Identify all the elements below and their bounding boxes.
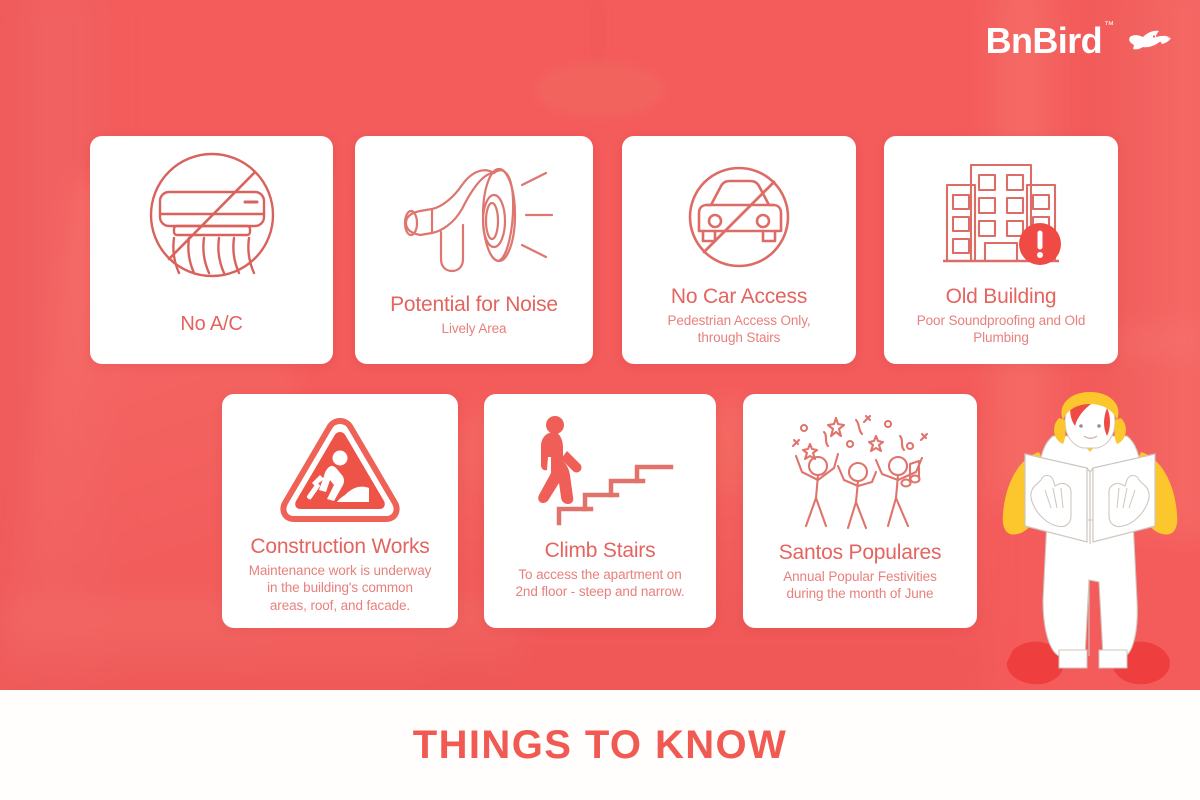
no-air-conditioner-icon <box>133 152 291 298</box>
background-pendant-lamp <box>534 62 666 118</box>
card-title: Construction Works <box>250 534 429 559</box>
card-text-wrapper: Santos Populares Annual Popular Festivit… <box>755 540 965 603</box>
card-climb-stairs[interactable]: Climb Stairs To access the apartment on … <box>484 394 716 628</box>
brand-logo[interactable]: BnBird ™ <box>986 20 1172 62</box>
card-construction-works[interactable]: Construction Works Maintenance work is u… <box>222 394 458 628</box>
card-subtitle: Poor Soundproofing and Old Plumbing <box>917 312 1086 347</box>
card-subtitle: Pedestrian Access Only, through Stairs <box>667 312 810 347</box>
card-icon-wrapper <box>102 150 321 300</box>
dancing-people-celebration-icon <box>776 410 944 538</box>
card-icon-wrapper <box>234 408 446 534</box>
dove-bird-icon <box>1124 25 1172 57</box>
page-title: THINGS TO KNOW <box>413 723 787 768</box>
person-reading-book-illustration <box>985 392 1195 690</box>
bottom-banner: THINGS TO KNOW <box>0 690 1200 800</box>
card-old-building[interactable]: Old Building Poor Soundproofing and Old … <box>884 136 1118 364</box>
card-title: Climb Stairs <box>545 538 656 563</box>
card-subtitle: Lively Area <box>442 320 507 337</box>
card-icon-wrapper <box>896 150 1106 284</box>
card-icon-wrapper <box>496 408 704 538</box>
card-subtitle: To access the apartment on 2nd floor - s… <box>516 566 685 601</box>
poster-stage: BnBird ™ <box>0 0 1200 800</box>
card-icon-wrapper <box>755 408 965 540</box>
card-icon-wrapper <box>367 150 581 292</box>
trademark-symbol: ™ <box>1104 20 1114 31</box>
card-text-wrapper: No Car Access Pedestrian Access Only, th… <box>634 284 844 347</box>
card-text-wrapper: Climb Stairs To access the apartment on … <box>496 538 704 601</box>
card-text-wrapper: No A/C <box>102 300 321 350</box>
person-climbing-stairs-icon <box>515 413 685 533</box>
no-car-icon <box>677 155 801 279</box>
card-text-wrapper: Construction Works Maintenance work is u… <box>234 534 446 614</box>
card-santos-populares[interactable]: Santos Populares Annual Popular Festivit… <box>743 394 977 628</box>
card-subtitle: Maintenance work is underway in the buil… <box>249 562 432 614</box>
card-no-ac[interactable]: No A/C <box>90 136 333 364</box>
construction-warning-triangle-icon <box>279 415 401 527</box>
card-text-wrapper: Old Building Poor Soundproofing and Old … <box>896 284 1106 347</box>
card-potential-for-noise[interactable]: Potential for Noise Lively Area <box>355 136 593 364</box>
card-text-wrapper: Potential for Noise Lively Area <box>367 292 581 337</box>
megaphone-icon <box>386 159 562 283</box>
card-title: Potential for Noise <box>390 292 558 317</box>
card-subtitle: Annual Popular Festivities during the mo… <box>783 568 936 603</box>
card-no-car-access[interactable]: No Car Access Pedestrian Access Only, th… <box>622 136 856 364</box>
card-title: No Car Access <box>671 284 807 309</box>
card-icon-wrapper <box>634 150 844 284</box>
card-title: Old Building <box>946 284 1057 309</box>
card-title: No A/C <box>180 312 242 336</box>
old-building-warning-icon <box>937 161 1065 273</box>
card-title: Santos Populares <box>779 540 942 565</box>
brand-name: BnBird <box>986 20 1102 62</box>
